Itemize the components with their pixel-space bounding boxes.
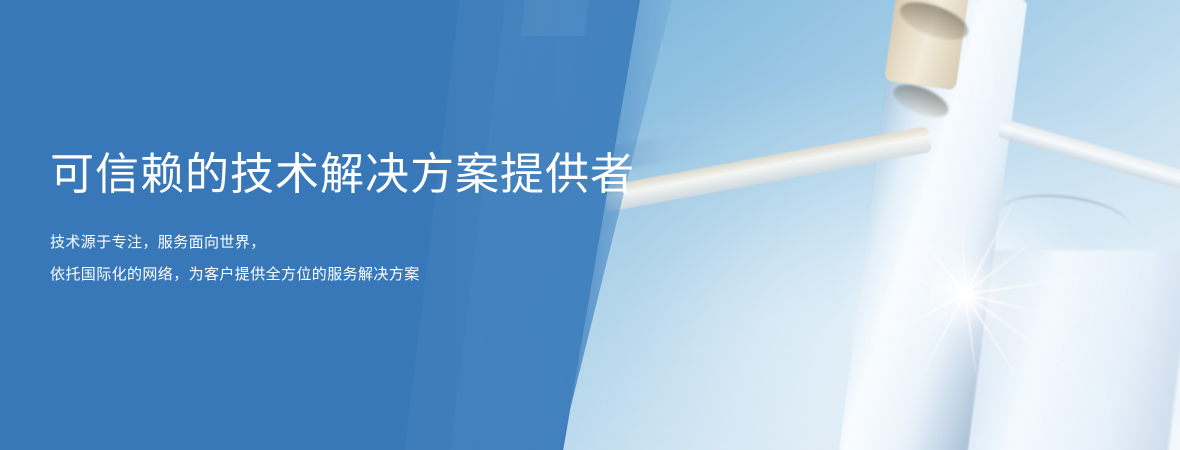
banner-headline: 可信赖的技术解决方案提供者 [50, 150, 670, 199]
banner-subtitle-line-1: 技术源于专注，服务面向世界， [50, 227, 670, 259]
banner-subtitle: 技术源于专注，服务面向世界， 依托国际化的网络，为客户提供全方位的服务解决方案 [50, 227, 670, 290]
hero-banner: 可信赖的技术解决方案提供者 技术源于专注，服务面向世界， 依托国际化的网络，为客… [0, 0, 1180, 450]
tower-seam-ring [998, 188, 1133, 250]
overlay-band-c [521, 0, 589, 36]
blade-right-icon [997, 118, 1180, 200]
banner-text-block: 可信赖的技术解决方案提供者 技术源于专注，服务面向世界， 依托国际化的网络，为客… [50, 150, 670, 290]
banner-subtitle-line-2: 依托国际化的网络，为客户提供全方位的服务解决方案 [50, 259, 670, 291]
